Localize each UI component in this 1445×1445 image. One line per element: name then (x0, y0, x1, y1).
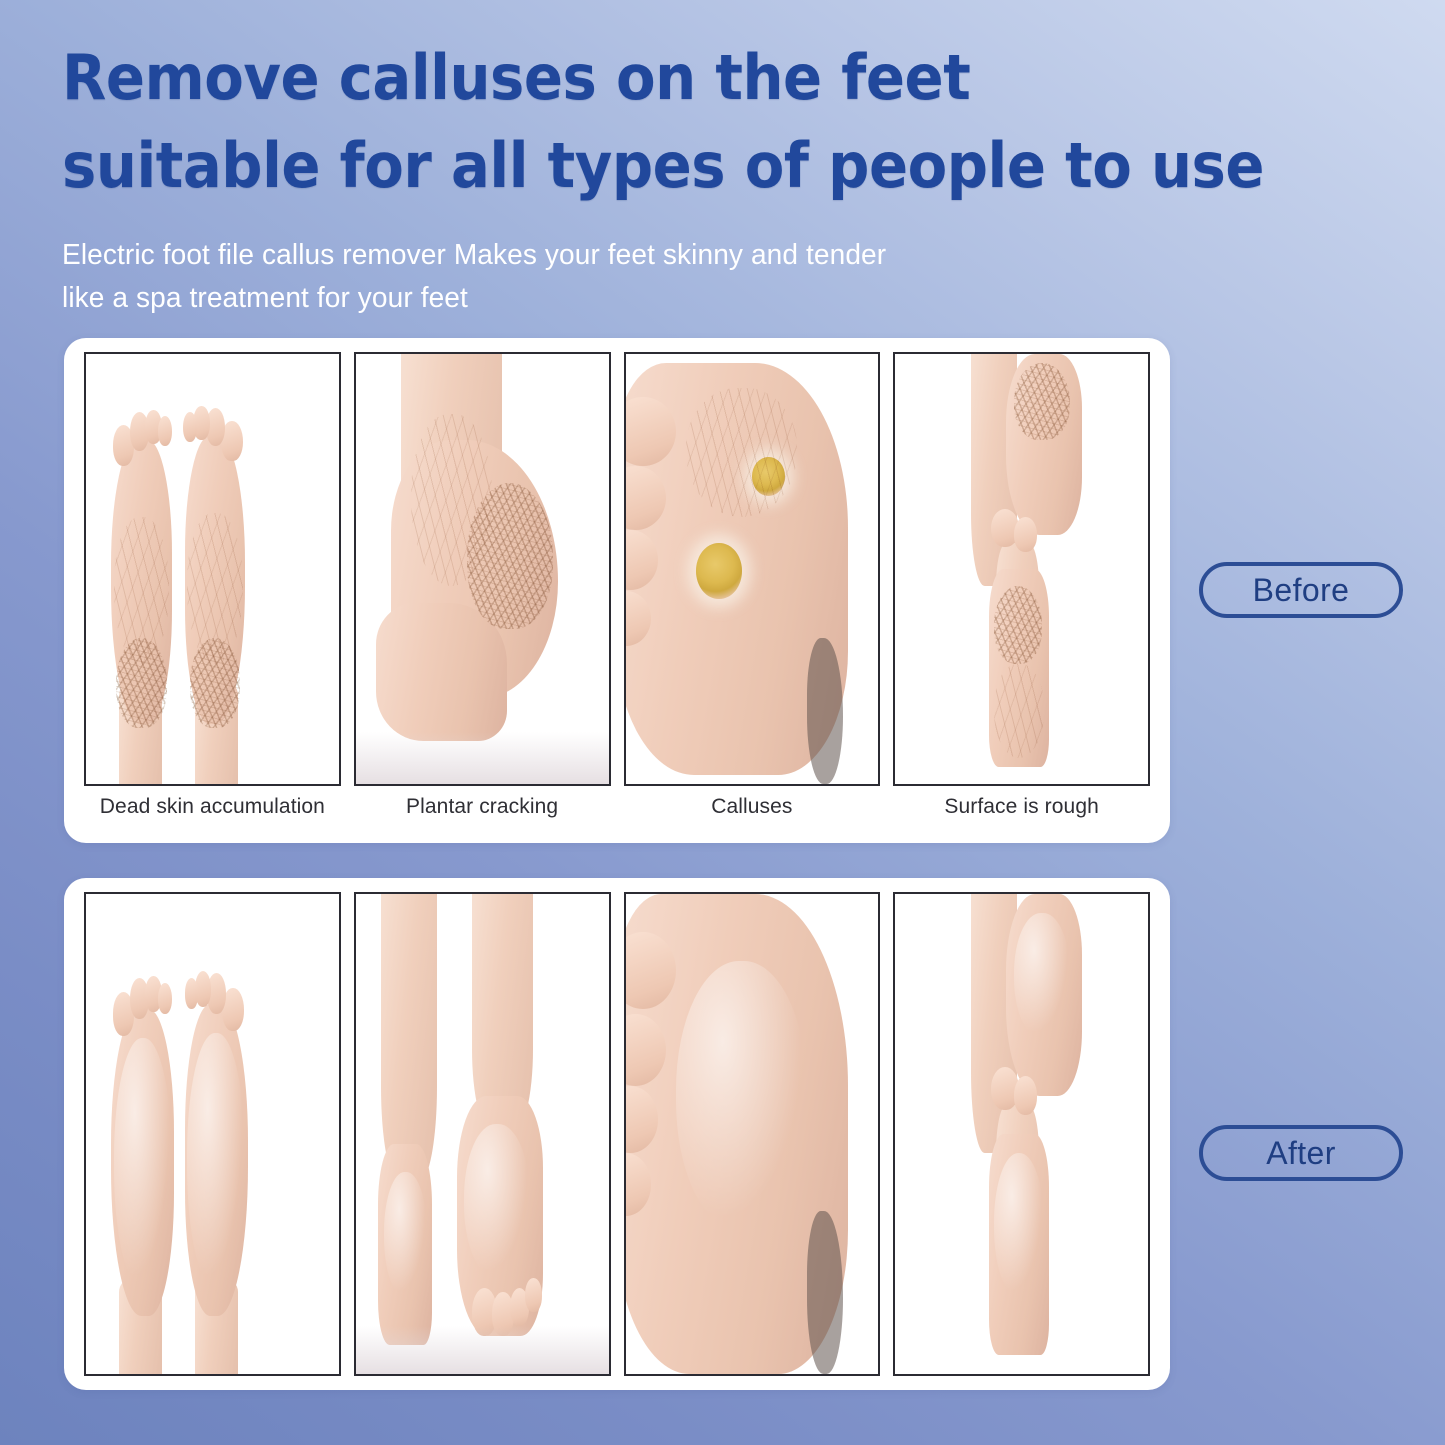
caption-calluses: Calluses (624, 787, 881, 827)
photo-smooth-standing-foot (893, 892, 1150, 1376)
photo-surface-is-rough (893, 352, 1150, 786)
dead-skin-accumulation-illustration (86, 354, 339, 784)
surface-is-rough-illustration (895, 354, 1148, 784)
header: Remove calluses on the feet suitable for… (62, 34, 1362, 321)
photo-dead-skin-accumulation (84, 352, 341, 786)
caption-surface-is-rough: Surface is rough (893, 787, 1150, 827)
after-photo-row (84, 892, 1150, 1376)
page-subtitle: Electric foot file callus remover Makes … (62, 234, 1343, 321)
badge-after: After (1199, 1125, 1403, 1181)
photo-plantar-cracking (354, 352, 611, 786)
caption-plantar-cracking: Plantar cracking (354, 787, 611, 827)
photo-smooth-heels (354, 892, 611, 1376)
before-caption-row: Dead skin accumulation Plantar cracking … (84, 787, 1150, 827)
calluses-illustration (626, 354, 879, 784)
photo-smooth-soles (84, 892, 341, 1376)
photo-calluses (624, 352, 881, 786)
before-section-card: Dead skin accumulation Plantar cracking … (64, 338, 1170, 843)
after-section-card (64, 878, 1170, 1390)
page-title: Remove calluses on the feet suitable for… (62, 34, 1271, 210)
before-photo-row (84, 352, 1150, 786)
caption-dead-skin-accumulation: Dead skin accumulation (84, 787, 341, 827)
smooth-forefoot-illustration (626, 894, 879, 1374)
badge-before: Before (1199, 562, 1403, 618)
photo-smooth-forefoot (624, 892, 881, 1376)
plantar-cracking-illustration (356, 354, 609, 784)
smooth-standing-foot-illustration (895, 894, 1148, 1374)
smooth-soles-illustration (86, 894, 339, 1374)
smooth-heels-illustration (356, 894, 609, 1374)
